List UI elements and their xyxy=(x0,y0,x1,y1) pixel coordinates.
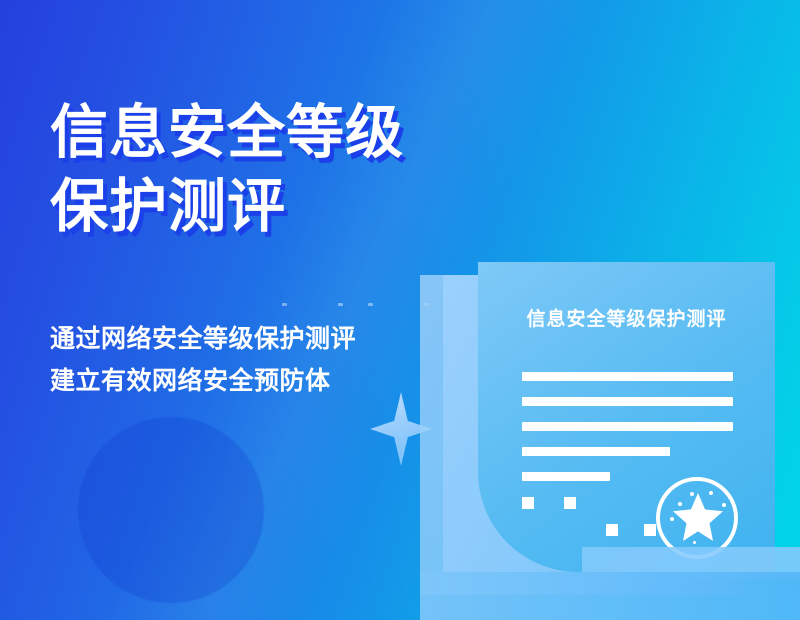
document-card-title: 信息安全等级保护测评 xyxy=(478,304,775,331)
headline: 信息安全等级 保护测评 xyxy=(50,96,404,244)
subheadline-line-2: 建立有效网络安全预防体 xyxy=(50,360,356,402)
seal-sparkle xyxy=(690,492,694,496)
document-square xyxy=(522,497,534,509)
subheadline: 通过网络安全等级保护测评 建立有效网络安全预防体 xyxy=(50,318,356,402)
document-stack: 信息安全等级保护测评 xyxy=(0,0,800,620)
promo-banner: 信息安全等级保护测评 xyxy=(0,0,800,620)
document-square xyxy=(644,524,656,536)
headline-line-1: 信息安全等级 xyxy=(50,96,404,170)
document-line xyxy=(522,472,610,481)
document-line xyxy=(522,397,733,406)
document-square xyxy=(606,524,618,536)
seal-sparkle xyxy=(670,517,674,521)
subheadline-line-1: 通过网络安全等级保护测评 xyxy=(50,318,356,360)
seal-sparkle xyxy=(722,503,726,507)
seal-sparkle xyxy=(678,502,682,506)
seal-sparkle xyxy=(709,491,713,495)
document-line xyxy=(522,372,733,381)
bottom-accent-band xyxy=(420,572,800,620)
document-card-front: 信息安全等级保护测评 xyxy=(478,262,775,572)
document-line xyxy=(522,422,733,431)
headline-line-2: 保护测评 xyxy=(50,170,404,244)
document-square xyxy=(564,497,576,509)
star-shape xyxy=(673,493,723,541)
document-line xyxy=(522,447,670,456)
seal-sparkle xyxy=(693,541,696,544)
